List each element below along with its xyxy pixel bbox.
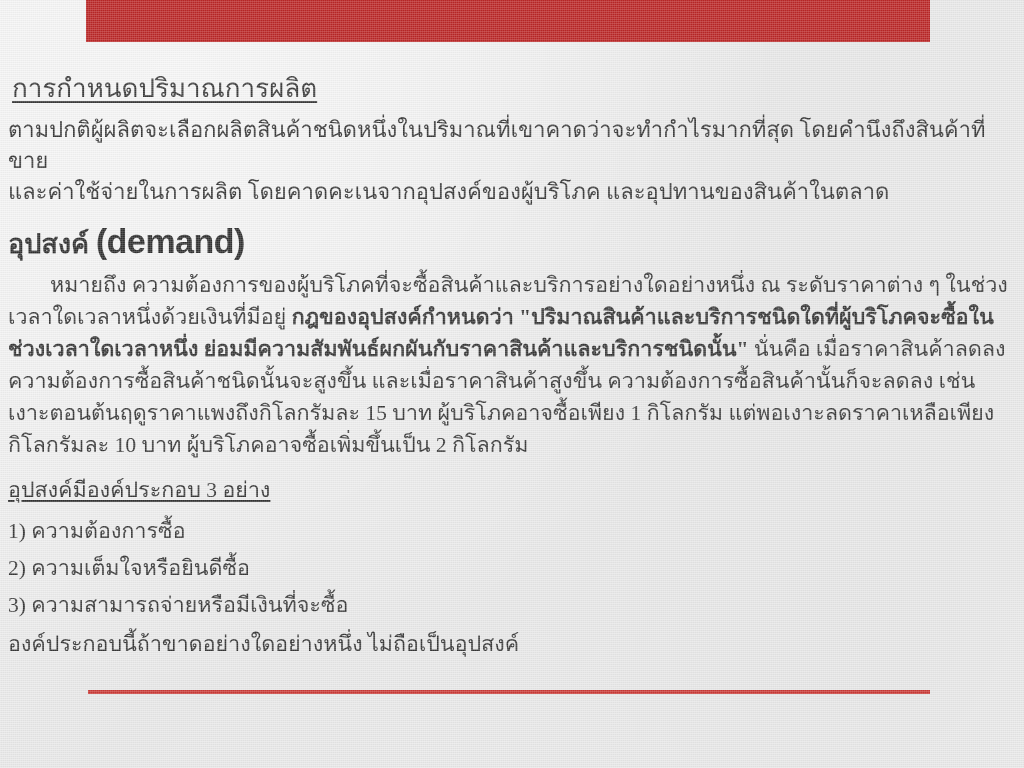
red-horizontal-rule <box>88 690 930 694</box>
components-heading: อุปสงค์มีองค์ประกอบ 3 อย่าง <box>8 473 270 507</box>
demand-heading-thai: อุปสงค์ <box>8 229 96 259</box>
components-list: 1) ความต้องการซื้อ 2) ความเต็มใจหรือยินด… <box>8 513 1016 624</box>
slide-content: การกำหนดปริมาณการผลิต ตามปกติผู้ผลิตจะเล… <box>8 76 1016 660</box>
demand-definition: หมายถึง ความต้องการของผู้บริโภคที่จะซื้อ… <box>8 269 1016 461</box>
list-item: 3) ความสามารถจ่ายหรือมีเงินที่จะซื้อ <box>8 587 1016 624</box>
page-title: การกำหนดปริมาณการผลิต <box>12 76 317 102</box>
top-red-banner <box>86 0 930 42</box>
list-item: 2) ความเต็มใจหรือยินดีซื้อ <box>8 550 1016 587</box>
intro-paragraph: ตามปกติผู้ผลิตจะเลือกผลิตสินค้าชนิดหนึ่ง… <box>8 114 1016 208</box>
slide-canvas: การกำหนดปริมาณการผลิต ตามปกติผู้ผลิตจะเล… <box>0 0 1024 768</box>
closing-line: องค์ประกอบนี้ถ้าขาดอย่างใดอย่างหนึ่ง ไม่… <box>8 628 1016 660</box>
demand-heading-english: (demand) <box>96 223 245 261</box>
list-item: 1) ความต้องการซื้อ <box>8 513 1016 550</box>
demand-heading: อุปสงค์ (demand) <box>8 224 1016 261</box>
